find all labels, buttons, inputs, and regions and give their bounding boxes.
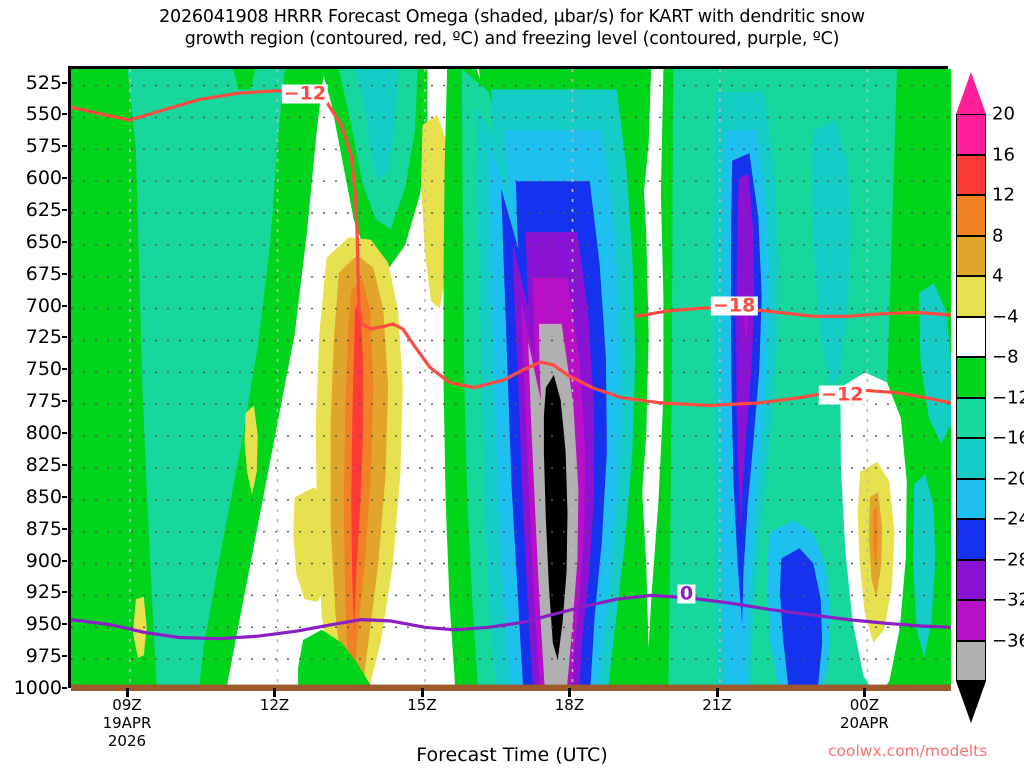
colorbar-segment-minus12: [956, 398, 986, 439]
colorbar-label-16: 16: [992, 144, 1015, 165]
y-tick-label-725: 725: [26, 326, 62, 348]
purple-contour-label-zero: 0: [678, 584, 695, 603]
page-title: 2026041908 HRRR Forecast Omega (shaded, …: [0, 6, 1024, 50]
y-tick-mark: [62, 560, 67, 562]
colorbar-label-minus4: −4: [992, 306, 1019, 327]
y-tick-mark: [62, 82, 67, 84]
y-tick-mark: [62, 209, 67, 211]
y-tick-mark: [62, 336, 67, 338]
colorbar-segment-16: [956, 155, 986, 196]
y-tick-mark: [62, 496, 67, 498]
y-tick-label-650: 650: [26, 231, 62, 253]
y-tick-mark: [62, 273, 67, 275]
y-tick-label-875: 875: [26, 518, 62, 540]
x-tick-date: 19APR: [103, 714, 152, 732]
x-tick-hour: 21Z: [702, 696, 731, 714]
colorbar-label-minus12: −12: [992, 387, 1024, 408]
y-tick-mark: [62, 464, 67, 466]
x-tick-mark: [273, 688, 276, 697]
colorbar-segment-minus32: [956, 600, 986, 641]
red-contour-label-lower: −12: [819, 385, 865, 404]
y-tick-label-550: 550: [26, 103, 62, 125]
colorbar-label-minus20: −20: [992, 468, 1024, 489]
x-tick-mark: [421, 688, 424, 697]
colorbar-segment-minus20: [956, 479, 986, 520]
x-tick-label-09Z: 09Z19APR2026: [103, 696, 152, 750]
y-tick-label-700: 700: [26, 295, 62, 317]
y-tick-label-1000: 1000: [14, 677, 62, 699]
colorbar-label-minus24: −24: [992, 509, 1024, 530]
y-tick-label-900: 900: [26, 550, 62, 572]
colorbar-label-minus36: −36: [992, 630, 1024, 651]
colorbar-label-minus8: −8: [992, 347, 1019, 368]
x-tick-hour: 09Z: [103, 696, 152, 714]
x-tick-hour: 12Z: [260, 696, 289, 714]
x-tick-date: 20APR: [840, 714, 889, 732]
x-tick-label-12Z: 12Z: [260, 696, 289, 714]
x-tick-label-15Z: 15Z: [407, 696, 436, 714]
x-tick-mark: [568, 688, 571, 697]
y-tick-mark: [62, 432, 67, 434]
y-tick-label-950: 950: [26, 613, 62, 635]
colorbar-label-minus32: −32: [992, 590, 1024, 611]
y-tick-label-675: 675: [26, 263, 62, 285]
x-tick-mark: [126, 688, 129, 697]
colorbar-segment-4: [956, 276, 986, 317]
y-tick-label-975: 975: [26, 645, 62, 667]
colorbar-label-minus28: −28: [992, 549, 1024, 570]
y-tick-mark: [62, 591, 67, 593]
y-tick-mark: [62, 623, 67, 625]
y-tick-mark: [62, 528, 67, 530]
y-tick-label-575: 575: [26, 135, 62, 157]
y-tick-mark: [62, 113, 67, 115]
x-tick-label-00Z: 00Z20APR: [840, 696, 889, 732]
y-tick-label-600: 600: [26, 167, 62, 189]
y-tick-label-625: 625: [26, 199, 62, 221]
y-tick-mark: [62, 368, 67, 370]
plot-frame: [68, 66, 948, 688]
y-tick-label-825: 825: [26, 454, 62, 476]
colorbar-label-8: 8: [992, 225, 1003, 246]
red-contour-label-mid: −18: [711, 296, 757, 315]
watermark: coolwx.com/modelts: [828, 742, 987, 760]
y-tick-label-750: 750: [26, 358, 62, 380]
plot-area: [68, 66, 948, 688]
colorbar-cap-bottom: [956, 681, 986, 723]
y-tick-mark: [62, 400, 67, 402]
x-tick-label-21Z: 21Z: [702, 696, 731, 714]
x-tick-mark: [716, 688, 719, 697]
red-contour-label-upper: −12: [282, 85, 328, 104]
x-tick-hour: 00Z: [840, 696, 889, 714]
colorbar-label-20: 20: [992, 104, 1015, 125]
colorbar-segment-20: [956, 114, 986, 155]
y-tick-label-525: 525: [26, 72, 62, 94]
y-tick-mark: [62, 655, 67, 657]
y-axis: 5255505756006256506757007257507758008258…: [0, 0, 62, 768]
y-tick-label-850: 850: [26, 486, 62, 508]
x-tick-hour: 18Z: [555, 696, 584, 714]
y-tick-label-775: 775: [26, 390, 62, 412]
colorbar-segment-12: [956, 195, 986, 236]
colorbar-cap-top: [956, 72, 986, 114]
colorbar-segment-minus8: [956, 357, 986, 398]
omega-shaded-field: [71, 69, 951, 691]
colorbar-segment-minus28: [956, 560, 986, 601]
colorbar: 20161284−4−8−12−16−20−24−28−32−36: [956, 72, 990, 682]
colorbar-segment-minus24: [956, 519, 986, 560]
y-tick-mark: [62, 305, 67, 307]
y-tick-mark: [62, 241, 67, 243]
colorbar-segment-minus4: [956, 317, 986, 358]
title-line-2: growth region (contoured, red, ºC) and f…: [0, 28, 1024, 50]
x-tick-hour: 15Z: [407, 696, 436, 714]
colorbar-segment-8: [956, 236, 986, 277]
title-line-1: 2026041908 HRRR Forecast Omega (shaded, …: [0, 6, 1024, 28]
x-tick-label-18Z: 18Z: [555, 696, 584, 714]
y-tick-mark: [62, 145, 67, 147]
y-tick-label-800: 800: [26, 422, 62, 444]
y-tick-mark: [62, 687, 67, 689]
y-tick-label-925: 925: [26, 581, 62, 603]
colorbar-segment-minus16: [956, 438, 986, 479]
colorbar-label-4: 4: [992, 266, 1003, 287]
colorbar-label-minus16: −16: [992, 428, 1024, 449]
colorbar-label-12: 12: [992, 185, 1015, 206]
colorbar-segment-minus36: [956, 641, 986, 682]
x-tick-mark: [863, 688, 866, 697]
y-tick-mark: [62, 177, 67, 179]
